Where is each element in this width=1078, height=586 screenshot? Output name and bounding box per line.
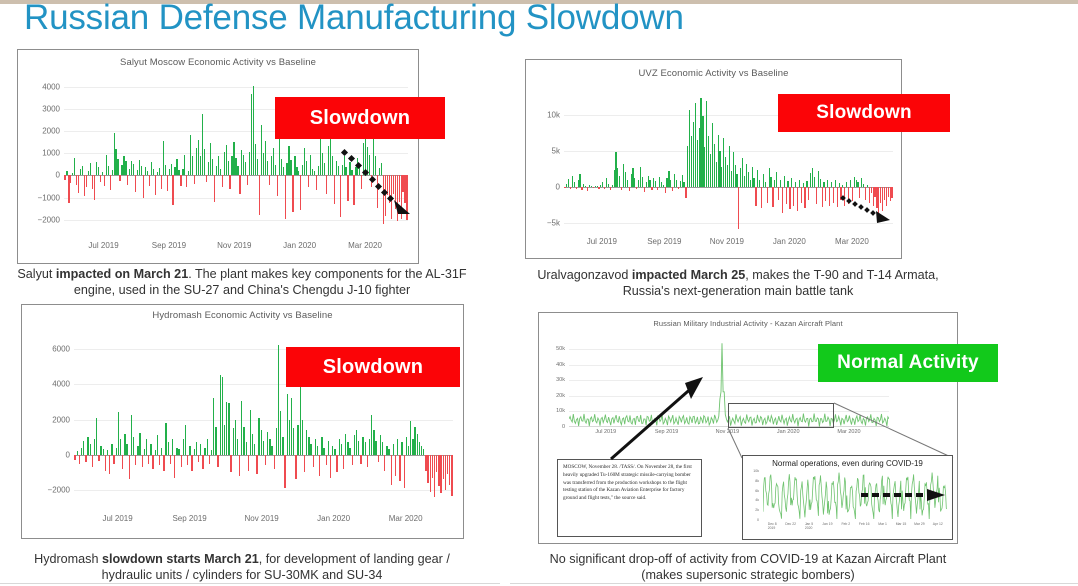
- bar: [404, 455, 405, 488]
- bar: [352, 455, 353, 466]
- bar: [341, 444, 342, 455]
- bar: [214, 175, 215, 201]
- bar: [78, 175, 79, 192]
- bar: [239, 455, 240, 476]
- bar: [239, 175, 240, 193]
- bar: [143, 175, 144, 198]
- bar: [825, 187, 826, 201]
- chart-panel-hydromash: Hydromash Economic Activity vs Baseline …: [21, 304, 464, 539]
- bar: [83, 441, 84, 455]
- bar: [388, 449, 389, 454]
- bar: [657, 187, 658, 191]
- bar: [269, 175, 270, 184]
- y-axis-uvz: 10k5k0−5k: [530, 86, 560, 230]
- bar: [137, 446, 138, 455]
- bar: [117, 159, 118, 176]
- bar: [423, 449, 424, 454]
- bar: [393, 444, 394, 455]
- bar: [339, 439, 340, 455]
- bar: [119, 175, 120, 181]
- bar: [598, 187, 599, 189]
- bar: [109, 455, 110, 474]
- bar: [384, 455, 385, 471]
- bar: [827, 180, 828, 186]
- y-axis-hydromash: 6000400020000−2000: [28, 335, 70, 504]
- x-tick-label: Sep 2019: [152, 241, 186, 250]
- bar: [306, 430, 307, 455]
- x-tick-label: Sep 2019: [172, 514, 206, 523]
- bar: [414, 427, 415, 455]
- bar: [174, 455, 175, 478]
- bar: [142, 455, 143, 467]
- caption-kazan: No significant drop-off of activity from…: [528, 551, 968, 583]
- y-tick-label: 10k: [547, 110, 560, 119]
- x-tick-label: Mar 1: [878, 522, 887, 526]
- caption-text-kazan: No significant drop-off of activity from…: [550, 552, 947, 582]
- bar: [417, 434, 418, 455]
- bar: [211, 450, 212, 454]
- bar: [157, 435, 158, 454]
- bar: [759, 180, 760, 187]
- bar: [276, 428, 277, 454]
- bar: [212, 159, 213, 176]
- bar: [306, 161, 307, 176]
- bar: [619, 176, 620, 187]
- bar: [308, 175, 309, 187]
- bar: [814, 177, 815, 187]
- bar: [356, 430, 357, 455]
- bar: [172, 175, 173, 204]
- decline-arrow-salyut: [340, 146, 412, 216]
- bar: [816, 187, 817, 204]
- gridline: [74, 490, 453, 491]
- x-axis-inset: Dec 8 2019Dec 22Jan 5 2020Jan 19Feb 2Feb…: [763, 522, 947, 538]
- bar: [315, 439, 316, 455]
- bar: [649, 180, 650, 186]
- bar: [220, 375, 221, 454]
- bar: [170, 455, 171, 464]
- x-tick-label: Dec 8 2019: [768, 522, 777, 530]
- bar: [324, 163, 325, 175]
- x-axis-salyut: Jul 2019Sep 2019Nov 2019Jan 2020Mar 2020: [64, 241, 408, 253]
- y-tick-label: 6000: [52, 345, 70, 354]
- bar: [159, 455, 160, 466]
- bar: [209, 455, 210, 464]
- x-tick-label: Nov 2019: [217, 241, 251, 250]
- bar: [332, 156, 333, 175]
- bar: [280, 411, 281, 455]
- bar: [104, 175, 105, 186]
- x-tick-label: Mar 2020: [835, 237, 869, 246]
- bar: [791, 178, 792, 187]
- bar: [172, 439, 173, 455]
- bar: [581, 187, 582, 190]
- footer-rule-left: [0, 583, 500, 584]
- bar: [334, 449, 335, 454]
- y-axis-inset: 10k8k6k4k2k0: [745, 471, 759, 520]
- bar: [103, 449, 104, 454]
- y-tick-label: 4000: [42, 82, 60, 91]
- caption-salyut: Salyut impacted on March 21. The plant m…: [12, 266, 472, 298]
- bar: [229, 175, 230, 189]
- bar: [445, 455, 446, 490]
- bar: [125, 161, 126, 175]
- bar: [373, 430, 374, 455]
- bar: [300, 175, 301, 210]
- bar: [345, 434, 346, 455]
- bar: [323, 448, 324, 455]
- y-tick-label: 10k: [753, 469, 759, 473]
- bar: [259, 175, 260, 215]
- bar: [127, 175, 128, 185]
- bar: [570, 187, 571, 189]
- bar: [386, 446, 387, 455]
- bar: [678, 187, 679, 189]
- bar: [627, 180, 628, 186]
- bar: [64, 175, 65, 180]
- bar: [780, 180, 781, 186]
- bar: [321, 437, 322, 455]
- bar: [629, 187, 630, 191]
- x-tick-label: Jan 2020: [283, 241, 316, 250]
- bar: [252, 434, 253, 455]
- bar: [419, 442, 420, 454]
- bar: [144, 449, 145, 454]
- bar: [401, 442, 402, 454]
- bar: [116, 448, 117, 455]
- bar: [850, 180, 851, 186]
- bar: [408, 446, 409, 455]
- bar: [204, 149, 205, 175]
- bar: [139, 433, 140, 455]
- bar: [371, 415, 372, 455]
- bar: [180, 175, 181, 185]
- bar: [85, 455, 86, 462]
- bar: [789, 187, 790, 209]
- bar: [685, 187, 686, 198]
- bar: [74, 158, 75, 175]
- bar: [336, 455, 337, 473]
- y-tick-label: 8k: [755, 479, 759, 483]
- bar: [291, 398, 292, 454]
- bar: [432, 455, 433, 478]
- bar: [90, 163, 91, 175]
- bar: [610, 187, 611, 191]
- bar: [434, 455, 435, 497]
- bar: [317, 446, 318, 455]
- bar: [820, 179, 821, 187]
- bar: [94, 175, 95, 200]
- bar: [284, 455, 285, 488]
- bar: [302, 420, 303, 455]
- bar: [107, 450, 108, 454]
- bar: [436, 455, 437, 473]
- bar: [310, 444, 311, 455]
- bar: [124, 434, 125, 455]
- bar: [222, 175, 223, 187]
- bar: [837, 187, 838, 207]
- bar: [118, 412, 119, 455]
- bar: [133, 164, 134, 176]
- chart-title-uvz: UVZ Economic Activity vs Baseline: [526, 68, 901, 79]
- bar: [399, 455, 400, 481]
- bar: [86, 175, 87, 187]
- bar: [183, 439, 184, 455]
- bar: [257, 159, 258, 176]
- bar: [213, 398, 214, 454]
- bar: [604, 187, 605, 189]
- x-axis-uvz: Jul 2019Sep 2019Nov 2019Jan 2020Mar 2020: [564, 237, 893, 249]
- bar: [224, 425, 225, 455]
- caption-text-salyut: Salyut impacted on March 21. The plant m…: [17, 267, 466, 297]
- y-tick-label: 6k: [755, 489, 759, 493]
- bar: [761, 187, 762, 209]
- bar: [202, 455, 203, 469]
- bar: [165, 165, 166, 175]
- bar: [576, 187, 577, 189]
- bar: [784, 176, 785, 187]
- bar: [271, 446, 272, 455]
- bar: [292, 175, 293, 211]
- bar: [113, 455, 114, 464]
- y-tick-label: 4000: [52, 380, 70, 389]
- bar: [237, 166, 238, 175]
- x-tick-label: Jul 2019: [587, 237, 617, 246]
- bar: [347, 442, 348, 454]
- bar: [131, 415, 132, 455]
- bar: [92, 455, 93, 467]
- bar: [192, 156, 193, 175]
- bar: [186, 175, 187, 187]
- bar: [241, 401, 242, 455]
- bar: [804, 187, 805, 209]
- bar: [308, 437, 309, 455]
- bar: [427, 455, 428, 483]
- footer-rule-right: [510, 583, 1078, 584]
- bar: [108, 166, 109, 175]
- bar: [135, 175, 136, 192]
- inset-zoom-chart: Normal operations, even during COVID-19 …: [742, 455, 953, 540]
- bar: [126, 444, 127, 455]
- y-tick-label: 0: [56, 171, 60, 180]
- bar: [421, 446, 422, 455]
- bar: [235, 420, 236, 455]
- bar: [129, 455, 130, 480]
- bar: [111, 444, 112, 455]
- bar: [150, 444, 151, 455]
- y-tick-label: −1000: [38, 193, 60, 202]
- bar: [267, 432, 268, 455]
- bar: [171, 164, 172, 176]
- bar: [79, 455, 80, 465]
- bar: [98, 455, 99, 462]
- x-tick-label: Mar 29: [914, 522, 925, 526]
- x-axis-hydromash: Jul 2019Sep 2019Nov 2019Jan 2020Mar 2020: [74, 514, 453, 526]
- x-tick-label: Jan 19: [822, 522, 832, 526]
- bar: [81, 448, 82, 455]
- bar: [206, 175, 207, 182]
- page-title: Russian Defense Manufacturing Slowdown: [24, 0, 684, 38]
- bar: [226, 402, 227, 455]
- bar: [96, 418, 97, 455]
- banner-slowdown-salyut: Slowdown: [275, 97, 445, 139]
- bar: [110, 175, 111, 190]
- bar: [265, 455, 266, 466]
- bar: [304, 455, 305, 473]
- bar: [245, 162, 246, 175]
- banner-label: Normal Activity: [837, 352, 979, 374]
- y-tick-label: −2000: [38, 215, 60, 224]
- bar: [587, 187, 588, 191]
- bar: [161, 448, 162, 455]
- banner-label: Slowdown: [310, 107, 410, 130]
- bar: [246, 442, 247, 454]
- bar: [161, 175, 162, 189]
- x-tick-label: Jan 2020: [317, 514, 350, 523]
- bar: [799, 180, 800, 187]
- bar: [204, 448, 205, 455]
- y-tick-label: 3000: [42, 105, 60, 114]
- bar: [194, 175, 195, 183]
- bar: [736, 174, 737, 187]
- bar: [215, 427, 216, 455]
- bar: [165, 423, 166, 455]
- bar: [243, 427, 244, 455]
- y-tick-label: 5k: [552, 146, 560, 155]
- bar: [198, 455, 199, 462]
- bar: [87, 437, 88, 455]
- bar: [829, 187, 830, 206]
- y-tick-label: 2k: [755, 508, 759, 512]
- bar: [155, 450, 156, 454]
- bar: [670, 180, 671, 186]
- bar: [189, 446, 190, 455]
- bar: [360, 455, 361, 464]
- y-tick-label: 4k: [755, 498, 759, 502]
- caption-text-uvz: Uralvagonzavod impacted March 25, makes …: [537, 268, 938, 298]
- x-tick-label: Jan 5 2020: [805, 522, 813, 530]
- bar: [90, 444, 91, 455]
- bar: [283, 167, 284, 175]
- banner-label: Slowdown: [323, 356, 423, 379]
- gridline: [64, 220, 408, 221]
- banner-label: Slowdown: [816, 102, 912, 124]
- bar: [316, 175, 317, 190]
- bar: [146, 439, 147, 455]
- bar: [269, 439, 270, 455]
- y-tick-label: 0: [66, 450, 70, 459]
- bar: [767, 187, 768, 203]
- bar: [568, 179, 569, 187]
- bar: [835, 180, 836, 187]
- bar: [349, 448, 350, 455]
- bar: [74, 455, 75, 460]
- bar: [277, 175, 278, 196]
- bar: [375, 441, 376, 455]
- bar: [430, 455, 431, 492]
- bar: [120, 439, 121, 455]
- bar: [786, 187, 787, 204]
- bar: [391, 455, 392, 485]
- bar: [237, 439, 238, 455]
- bar: [770, 177, 771, 187]
- bar: [98, 167, 99, 175]
- x-tick-label: Jul 2019: [102, 514, 132, 523]
- bar: [753, 178, 754, 187]
- bar: [621, 187, 622, 190]
- bar: [100, 175, 101, 182]
- bar: [644, 187, 645, 192]
- bar: [354, 435, 355, 454]
- bar: [451, 455, 452, 496]
- bar: [290, 160, 291, 176]
- bar: [122, 455, 123, 469]
- y-tick-label: 0: [757, 518, 759, 522]
- bar: [564, 187, 565, 188]
- bar: [651, 187, 652, 190]
- x-tick-label: Mar 2020: [348, 241, 382, 250]
- bar: [191, 455, 192, 471]
- banner-normal-activity: Normal Activity: [818, 344, 998, 382]
- bar: [178, 449, 179, 454]
- bar: [425, 455, 426, 471]
- bar: [365, 442, 366, 454]
- bar: [278, 345, 279, 455]
- bar: [412, 439, 413, 455]
- bar: [334, 175, 335, 203]
- banner-slowdown-hydromash: Slowdown: [286, 347, 460, 387]
- bar: [258, 418, 259, 455]
- bar: [135, 455, 136, 466]
- bar: [207, 439, 208, 455]
- bar: [250, 410, 251, 455]
- bar: [797, 187, 798, 211]
- y-tick-label: −2000: [48, 485, 70, 494]
- bar: [70, 175, 71, 183]
- bar: [738, 187, 739, 229]
- y-tick-label: 1000: [42, 149, 60, 158]
- chart-panel-uvz: UVZ Economic Activity vs Baseline 10k5k0…: [525, 59, 902, 259]
- bar: [82, 166, 83, 176]
- bar: [77, 451, 78, 455]
- bar: [159, 168, 160, 176]
- caption-hydromash: Hydromash slowdown starts March 21, for …: [12, 551, 472, 583]
- decline-arrow-svg-uvz: [840, 194, 892, 228]
- bar: [378, 455, 379, 462]
- bar: [248, 455, 249, 471]
- y-tick-label: 0: [556, 182, 560, 191]
- bar: [382, 442, 383, 454]
- bar: [148, 455, 149, 464]
- x-tick-label: Mar 2020: [389, 514, 423, 523]
- bar: [254, 444, 255, 455]
- bar: [196, 442, 197, 454]
- bar: [642, 177, 643, 187]
- bar: [369, 439, 370, 455]
- bar: [295, 455, 296, 480]
- bar: [793, 187, 794, 206]
- x-tick-label: Dec 22: [785, 522, 796, 526]
- bar: [358, 441, 359, 455]
- bar: [230, 455, 231, 473]
- bar: [410, 421, 411, 454]
- bar: [133, 437, 134, 455]
- bar: [187, 455, 188, 466]
- bar: [100, 446, 101, 455]
- bar: [579, 174, 580, 187]
- bar: [247, 175, 248, 184]
- caption-text-hydromash: Hydromash slowdown starts March 21, for …: [34, 552, 450, 582]
